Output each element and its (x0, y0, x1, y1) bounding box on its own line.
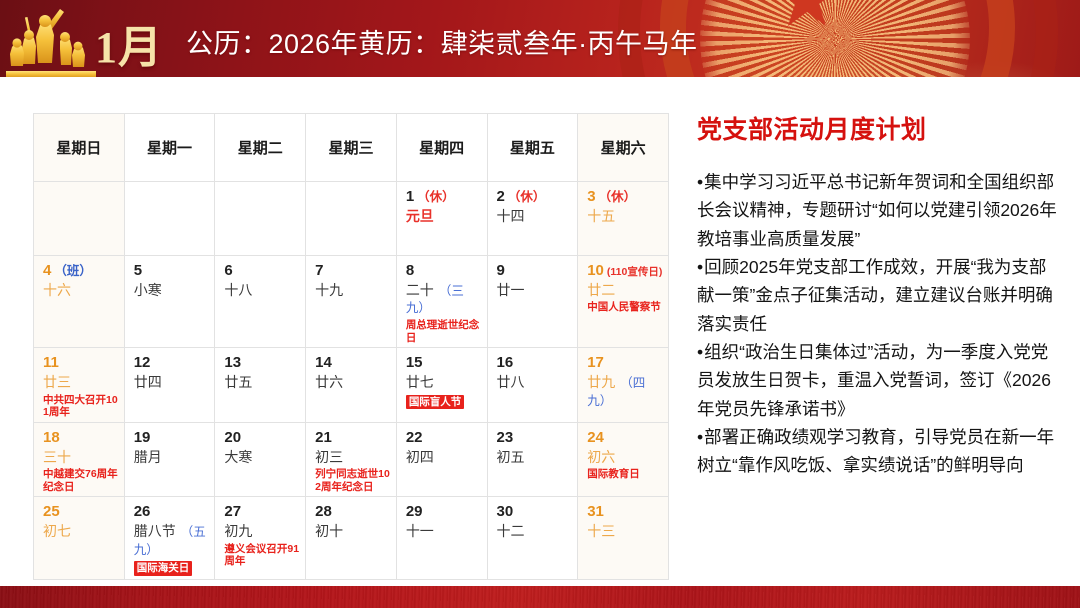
panel-item: •集中学习习近平总书记新年贺词和全国组织部长会议精神，专题研讨“如何以党建引领2… (697, 168, 1057, 253)
day-lunar-label: 初七 (43, 523, 118, 541)
day-number-row: 29 (406, 504, 481, 521)
day-lunar-label: 廿八 (497, 374, 572, 392)
header-subtitle: 公历：2026年黄历：肆柒贰叁年·丙午马年 (186, 22, 698, 61)
day-number-row: 18 (43, 430, 118, 447)
calendar-cell-day-30[interactable]: 30十二 (487, 497, 578, 580)
calendar-week-row: 4（班）十六5小寒6十八7十九8二十（三九）周总理逝世纪念日9廿一10(110宣… (34, 256, 669, 348)
lunar-text: 大寒 (224, 449, 252, 465)
calendar-cell-day-2[interactable]: 2（休）十四 (487, 182, 578, 256)
calendar-cell-empty (306, 182, 397, 256)
day-lunar-label: 元旦 (406, 208, 481, 226)
day-number: 12 (134, 354, 151, 371)
day-number-row: 6 (224, 263, 299, 280)
weekday-header-saturday: 星期六 (578, 114, 669, 182)
day-number: 2 (497, 188, 505, 205)
lunar-text: 廿七 (406, 374, 434, 390)
calendar-week-row: 18三十中越建交76周年纪念日19腊月20大寒21初三列宁同志逝世102周年纪念… (34, 422, 669, 496)
calendar-cell-day-9[interactable]: 9廿一 (487, 256, 578, 348)
lunar-text: 十三 (587, 523, 615, 539)
day-number: 15 (406, 354, 423, 371)
day-event-label: 中国人民警察节 (587, 301, 662, 314)
lunar-text: 廿一 (497, 282, 525, 298)
day-status-tag: （休） (417, 190, 455, 204)
day-number: 21 (315, 429, 332, 446)
calendar-cell-day-8[interactable]: 8二十（三九）周总理逝世纪念日 (396, 256, 487, 348)
day-number-row: 3（休） (587, 189, 662, 206)
day-number: 8 (406, 262, 414, 279)
day-number: 22 (406, 429, 423, 446)
panel-item-text: 回顾2025年党支部工作成效，开展“我为支部献一策”金点子征集活动，建立建议台账… (697, 257, 1053, 334)
day-number: 29 (406, 503, 423, 520)
day-number: 11 (43, 354, 59, 371)
panel-item-text: 组织“政治生日集体过”活动，为一季度入党党员发放生日贺卡，重温入党誓词，签订《2… (697, 342, 1051, 419)
day-number-row: 24 (587, 430, 662, 447)
monument-statue-icon (4, 5, 100, 77)
day-number: 30 (497, 503, 514, 520)
calendar-cell-day-23[interactable]: 23初五 (487, 422, 578, 496)
lunar-text: 廿二 (587, 282, 615, 298)
day-number-row: 12 (134, 355, 209, 372)
day-number-row: 9 (497, 263, 572, 280)
day-lunar-label: 十二 (497, 523, 572, 541)
day-number: 9 (497, 262, 505, 279)
month-label: 1月 (95, 23, 163, 72)
lunar-text: 十六 (43, 282, 71, 298)
calendar-cell-day-25[interactable]: 25初七 (34, 497, 125, 580)
lunar-text: 十九 (315, 282, 343, 298)
day-lunar-label: 初十 (315, 523, 390, 541)
weekday-header-monday: 星期一 (124, 114, 215, 182)
calendar-cell-day-28[interactable]: 28初十 (306, 497, 397, 580)
day-number-row: 26 (134, 504, 209, 521)
day-number: 20 (224, 429, 241, 446)
day-lunar-label: 初九 (224, 523, 299, 541)
day-number-row: 2（休） (497, 189, 572, 206)
day-number-row: 19 (134, 430, 209, 447)
day-number-row: 5 (134, 263, 209, 280)
day-number: 6 (224, 262, 232, 279)
calendar-cell-day-4[interactable]: 4（班）十六 (34, 256, 125, 348)
day-number-row: 31 (587, 504, 662, 521)
day-number-row: 22 (406, 430, 481, 447)
day-number: 28 (315, 503, 332, 520)
lunar-text: 十八 (224, 282, 252, 298)
day-number: 17 (587, 354, 604, 371)
day-number-row: 30 (497, 504, 572, 521)
calendar-cell-day-20[interactable]: 20大寒 (215, 422, 306, 496)
lunar-text: 初九 (224, 523, 252, 539)
day-lunar-label: 十六 (43, 282, 118, 300)
day-number: 14 (315, 354, 332, 371)
calendar-week-row: 25初七26腊八节（五九）国际海关日27初九遵义会议召开91周年28初十29十一… (34, 497, 669, 580)
calendar-cell-day-12[interactable]: 12廿四 (124, 348, 215, 422)
calendar-cell-day-13[interactable]: 13廿五 (215, 348, 306, 422)
day-lunar-label: 初五 (497, 449, 572, 467)
lunar-text: 十五 (587, 208, 615, 224)
lunar-text: 小寒 (134, 282, 162, 298)
day-number: 16 (497, 354, 514, 371)
day-number-row: 27 (224, 504, 299, 521)
calendar-cell-day-18[interactable]: 18三十中越建交76周年纪念日 (34, 422, 125, 496)
day-lunar-label: 廿三 (43, 374, 118, 392)
lunar-text: 初三 (315, 449, 343, 465)
day-event-label: 周总理逝世纪念日 (406, 319, 481, 344)
weekday-header-wednesday: 星期三 (306, 114, 397, 182)
weekday-header-friday: 星期五 (487, 114, 578, 182)
day-lunar-label: 十四 (497, 208, 572, 226)
day-number-row: 14 (315, 355, 390, 372)
day-lunar-label: 初六 (587, 449, 662, 467)
day-event-label: 列宁同志逝世102周年纪念日 (315, 468, 390, 493)
day-number-row: 10(110宣传日) (587, 263, 662, 280)
calendar-cell-day-7[interactable]: 7十九 (306, 256, 397, 348)
day-number: 10 (587, 262, 604, 279)
lunar-text: 廿六 (315, 374, 343, 390)
day-status-tag: （休） (599, 190, 637, 204)
day-number-row: 25 (43, 504, 118, 521)
lunar-text: 十二 (497, 523, 525, 539)
day-event-label: 中越建交76周年纪念日 (43, 468, 118, 493)
lunar-text: 初十 (315, 523, 343, 539)
day-lunar-label: 廿五 (224, 374, 299, 392)
calendar-cell-day-14[interactable]: 14廿六 (306, 348, 397, 422)
lunar-text: 腊八节 (134, 523, 176, 539)
lunar-text: 廿五 (224, 374, 252, 390)
calendar-cell-day-10[interactable]: 10(110宣传日)廿二中国人民警察节 (578, 256, 669, 348)
calendar-cell-day-19[interactable]: 19腊月 (124, 422, 215, 496)
day-number: 4 (43, 262, 51, 279)
calendar-cell-day-26[interactable]: 26腊八节（五九）国际海关日 (124, 497, 215, 580)
weekday-header-tuesday: 星期二 (215, 114, 306, 182)
day-lunar-label: 廿一 (497, 282, 572, 300)
calendar-cell-day-3[interactable]: 3（休）十五 (578, 182, 669, 256)
day-lunar-label: 廿四 (134, 374, 209, 392)
day-event-label: 中共四大召开101周年 (43, 394, 118, 419)
day-number-row: 17 (587, 355, 662, 372)
day-number: 3 (587, 188, 595, 205)
calendar-grid: 星期日 星期一 星期二 星期三 星期四 星期五 星期六 1（休）元旦2（休）十四… (33, 113, 669, 580)
lunar-text: 三十 (43, 449, 71, 465)
lunar-text: 初五 (497, 449, 525, 465)
day-lunar-label: 十九 (315, 282, 390, 300)
day-number-row: 28 (315, 504, 390, 521)
calendar-cell-day-1[interactable]: 1（休）元旦 (396, 182, 487, 256)
day-number-row: 23 (497, 430, 572, 447)
lunar-text: 元旦 (406, 208, 434, 224)
panel-item: •组织“政治生日集体过”活动，为一季度入党党员发放生日贺卡，重温入党誓词，签订《… (697, 338, 1057, 423)
bullet-icon: • (697, 342, 703, 362)
activity-plan-panel: 党支部活动月度计划 •集中学习习近平总书记新年贺词和全国组织部长会议精神，专题研… (697, 110, 1057, 480)
footer-band (0, 586, 1080, 608)
lunar-text: 二十 (406, 282, 434, 298)
day-number-row: 7 (315, 263, 390, 280)
lunar-text: 初四 (406, 449, 434, 465)
day-number: 26 (134, 503, 151, 520)
lunar-text: 十四 (497, 208, 525, 224)
day-lunar-label: 大寒 (224, 449, 299, 467)
calendar-cell-day-22[interactable]: 22初四 (396, 422, 487, 496)
day-event-label: 国际海关日 (134, 561, 193, 576)
day-number: 19 (134, 429, 151, 446)
day-event-label: 国际教育日 (587, 468, 662, 481)
day-lunar-label: 廿六 (315, 374, 390, 392)
day-number-row: 1（休） (406, 189, 481, 206)
lunar-text: 廿四 (134, 374, 162, 390)
calendar-cell-empty (215, 182, 306, 256)
calendar-body: 1（休）元旦2（休）十四3（休）十五4（班）十六5小寒6十八7十九8二十（三九）… (34, 182, 669, 580)
day-lunar-label: 二十（三九） (406, 282, 481, 317)
calendar-cell-empty (124, 182, 215, 256)
day-number: 23 (497, 429, 514, 446)
bullet-icon: • (697, 257, 703, 277)
day-number: 5 (134, 262, 142, 279)
day-lunar-label: 腊八节（五九） (134, 523, 209, 558)
calendar-week-row: 1（休）元旦2（休）十四3（休）十五 (34, 182, 669, 256)
calendar-cell-day-27[interactable]: 27初九遵义会议召开91周年 (215, 497, 306, 580)
day-number: 27 (224, 503, 241, 520)
panel-item-text: 部署正确政绩观学习教育，引导党员在新一年树立“靠作风吃饭、拿实绩说话”的鲜明导向 (697, 427, 1054, 475)
day-lunar-label: 十三 (587, 523, 662, 541)
panel-item: •回顾2025年党支部工作成效，开展“我为支部献一策”金点子征集活动，建立建议台… (697, 253, 1057, 338)
calendar-cell-day-15[interactable]: 15廿七国际盲人节 (396, 348, 487, 422)
calendar-cell-day-5[interactable]: 5小寒 (124, 256, 215, 348)
day-number: 24 (587, 429, 604, 446)
day-event-label: 遵义会议召开91周年 (224, 543, 299, 568)
day-status-tag: (110宣传日) (607, 266, 662, 278)
panel-item-text: 集中学习习近平总书记新年贺词和全国组织部长会议精神，专题研讨“如何以党建引领20… (697, 172, 1057, 249)
day-number-row: 13 (224, 355, 299, 372)
lunar-text: 腊月 (134, 449, 162, 465)
panel-item: •部署正确政绩观学习教育，引导党员在新一年树立“靠作风吃饭、拿实绩说话”的鲜明导… (697, 423, 1057, 480)
day-event-label: 国际盲人节 (406, 395, 465, 410)
calendar-cell-day-31[interactable]: 31十三 (578, 497, 669, 580)
page-header: 1月 公历：2026年黄历：肆柒贰叁年·丙午马年 (0, 0, 1080, 77)
calendar-cell-empty (34, 182, 125, 256)
panel-item-list: •集中学习习近平总书记新年贺词和全国组织部长会议精神，专题研讨“如何以党建引领2… (697, 168, 1057, 480)
day-lunar-label: 十一 (406, 523, 481, 541)
month-badge: 1月 (95, 11, 163, 75)
day-number-row: 4（班） (43, 263, 118, 280)
day-number: 7 (315, 262, 323, 279)
lunar-text: 初七 (43, 523, 71, 539)
lunar-text: 廿八 (497, 374, 525, 390)
day-number: 13 (224, 354, 241, 371)
lunar-text: 廿三 (43, 374, 71, 390)
day-number: 18 (43, 429, 60, 446)
day-lunar-label: 十八 (224, 282, 299, 300)
day-status-tag: （休） (508, 190, 546, 204)
weekday-header-thursday: 星期四 (396, 114, 487, 182)
day-lunar-label: 三十 (43, 449, 118, 467)
day-number: 25 (43, 503, 60, 520)
weekday-header-sunday: 星期日 (34, 114, 125, 182)
calendar-weekday-header: 星期日 星期一 星期二 星期三 星期四 星期五 星期六 (34, 114, 669, 182)
day-lunar-label: 十五 (587, 208, 662, 226)
calendar-cell-day-24[interactable]: 24初六国际教育日 (578, 422, 669, 496)
day-number: 31 (587, 503, 604, 520)
bullet-icon: • (697, 427, 703, 447)
day-number-row: 15 (406, 355, 481, 372)
day-lunar-label: 廿七 (406, 374, 481, 392)
day-lunar-label: 小寒 (134, 282, 209, 300)
day-number-row: 21 (315, 430, 390, 447)
calendar-cell-day-29[interactable]: 29十一 (396, 497, 487, 580)
day-lunar-label: 廿二 (587, 282, 662, 300)
lunar-text: 廿九 (587, 374, 615, 390)
day-number-row: 11 (43, 355, 118, 372)
lunar-text: 十一 (406, 523, 434, 539)
day-lunar-label: 腊月 (134, 449, 209, 467)
lunar-text: 初六 (587, 449, 615, 465)
calendar-week-row: 11廿三中共四大召开101周年12廿四13廿五14廿六15廿七国际盲人节16廿八… (34, 348, 669, 422)
calendar-cell-day-21[interactable]: 21初三列宁同志逝世102周年纪念日 (306, 422, 397, 496)
day-lunar-label: 初四 (406, 449, 481, 467)
bullet-icon: • (697, 172, 703, 192)
calendar-cell-day-6[interactable]: 6十八 (215, 256, 306, 348)
day-number-row: 8 (406, 263, 481, 280)
calendar-cell-day-16[interactable]: 16廿八 (487, 348, 578, 422)
day-number-row: 20 (224, 430, 299, 447)
calendar-cell-day-11[interactable]: 11廿三中共四大召开101周年 (34, 348, 125, 422)
day-lunar-label: 初三 (315, 449, 390, 467)
calendar-cell-day-17[interactable]: 17廿九（四九） (578, 348, 669, 422)
panel-title: 党支部活动月度计划 (697, 110, 1057, 146)
day-number-row: 16 (497, 355, 572, 372)
day-status-tag: （班） (54, 264, 92, 278)
day-lunar-label: 廿九（四九） (587, 374, 662, 409)
day-number: 1 (406, 188, 414, 205)
